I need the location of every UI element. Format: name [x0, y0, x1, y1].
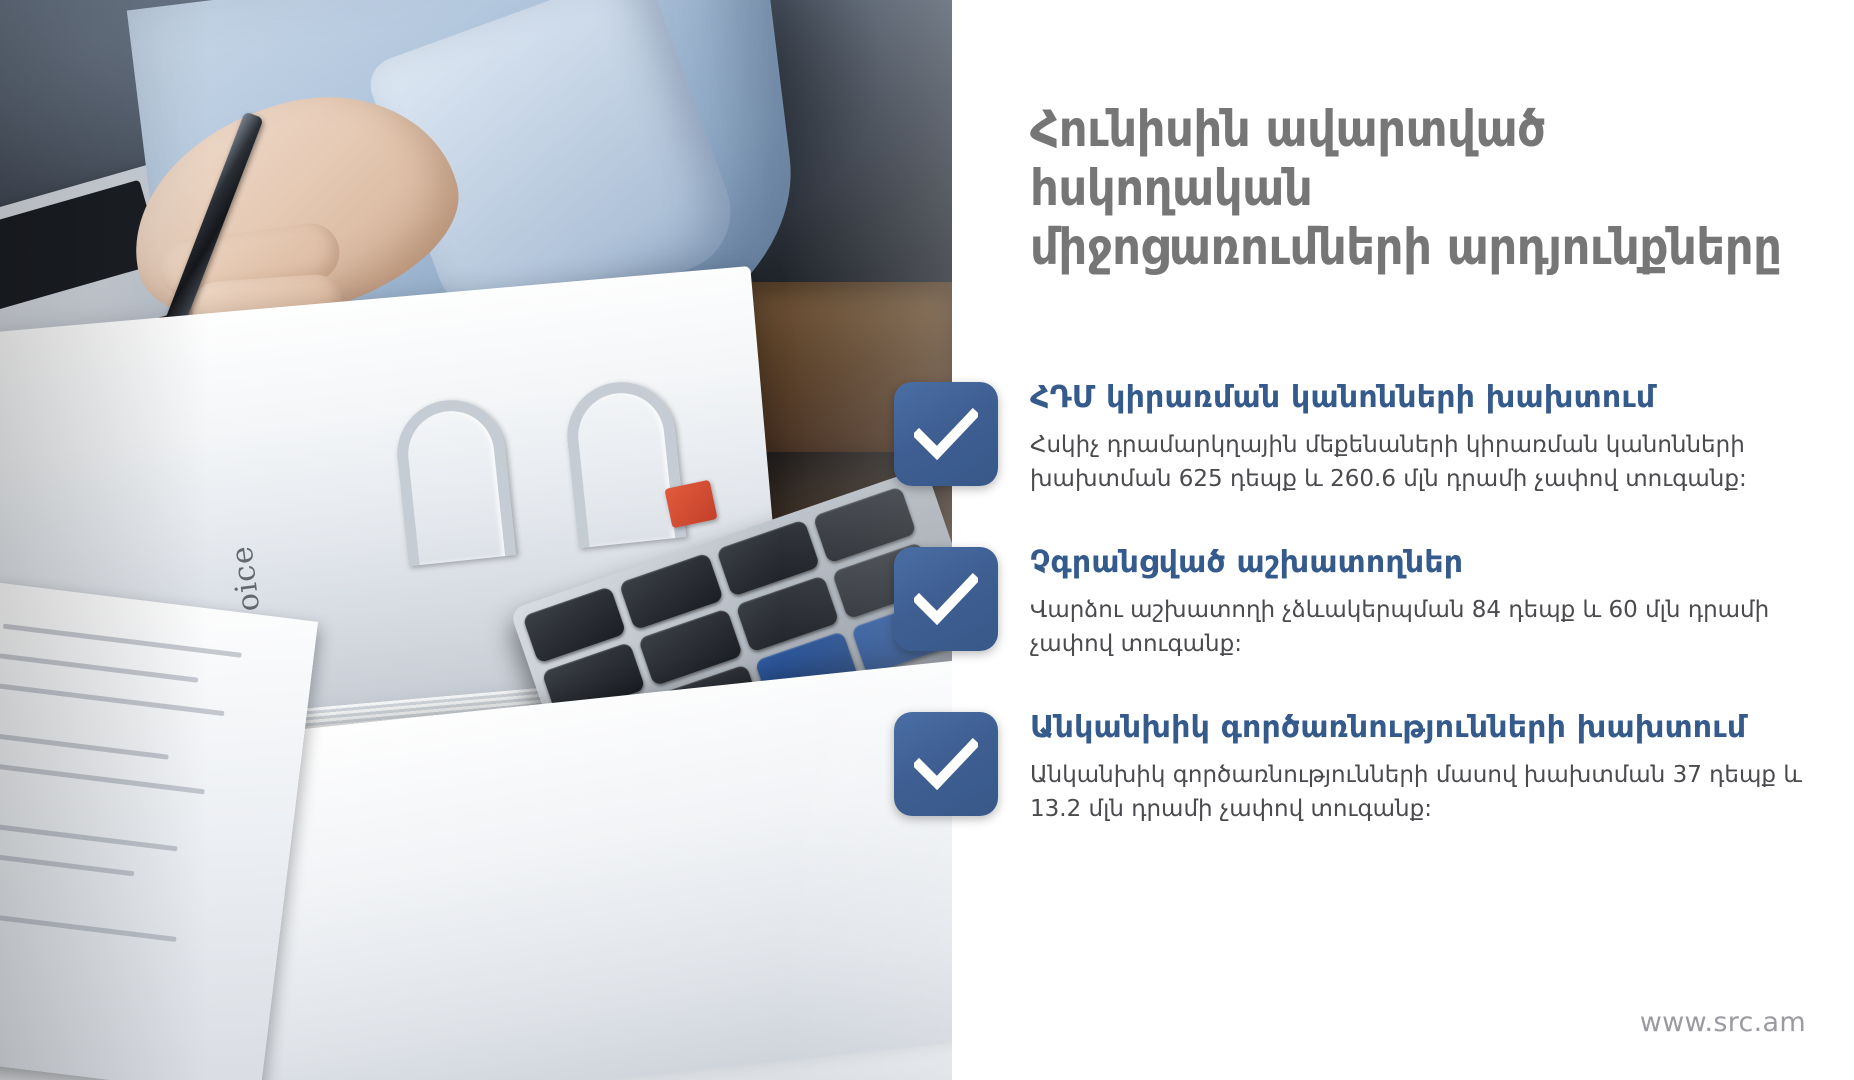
list-item-heading: Անկանխիկ գործառնությունների խախտում: [1030, 710, 1814, 746]
list-item: Անկանխիկ գործառնությունների խախտում Անկա…: [952, 710, 1854, 826]
list-item-body: Անկանխիկ գործառնությունների խախտում Անկա…: [1030, 710, 1854, 826]
check-icon: [894, 712, 998, 816]
page-title: Հունիսին ավարտված հսկողական միջոցառումնե…: [1030, 100, 1830, 277]
list-item-body: ՀԴՄ կիրառման կանոնների խախտում Հսկիչ դրա…: [1030, 380, 1854, 496]
page-title-line1: Հունիսին ավարտված հսկողական: [1030, 100, 1545, 217]
footer-url[interactable]: www.src.am: [1640, 1007, 1806, 1038]
list-item-text: Վարձու աշխատողի չձևակերպման 84 դեպք և 60…: [1030, 593, 1814, 661]
content-panel: Հունիսին ավարտված հսկողական միջոցառումնե…: [952, 0, 1854, 1080]
photo-vignette: [0, 0, 952, 1080]
check-icon: [894, 382, 998, 486]
list-item-heading: Չգրանցված աշխատողներ: [1030, 545, 1814, 581]
check-icon: [894, 547, 998, 651]
list-item: Չգրանցված աշխատողներ Վարձու աշխատողի չձև…: [952, 545, 1854, 661]
list-item: ՀԴՄ կիրառման կանոնների խախտում Հսկիչ դրա…: [952, 380, 1854, 496]
hero-photo: Invoice: [0, 0, 952, 1080]
infographic-slide: Invoice: [0, 0, 1854, 1080]
bullet-list: ՀԴՄ կիրառման կանոնների խախտում Հսկիչ դրա…: [952, 380, 1854, 875]
list-item-body: Չգրանցված աշխատողներ Վարձու աշխատողի չձև…: [1030, 545, 1854, 661]
list-item-heading: ՀԴՄ կիրառման կանոնների խախտում: [1030, 380, 1814, 416]
list-item-text: Հսկիչ դրամարկղային մեքենաների կիրառման կ…: [1030, 428, 1814, 496]
list-item-text: Անկանխիկ գործառնությունների մասով խախտմա…: [1030, 758, 1814, 826]
page-title-line2: միջոցառումների արդյունքները: [1030, 218, 1830, 277]
